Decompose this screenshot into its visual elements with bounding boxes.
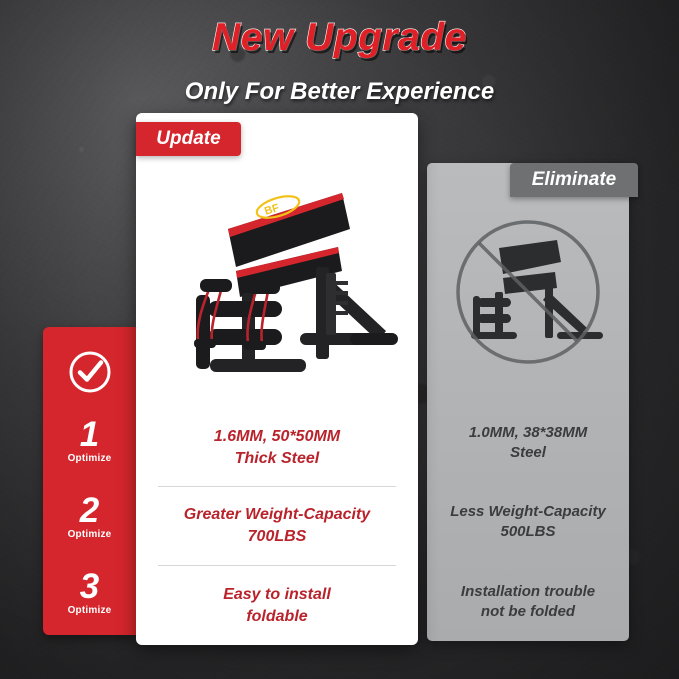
optimize-item-1: 1 Optimize: [43, 417, 136, 464]
eliminate-tab: Eliminate: [510, 163, 638, 197]
page-title: New Upgrade: [0, 18, 679, 59]
update-row-3: Easy to install foldable: [136, 566, 418, 646]
optimize-label: Optimize: [43, 605, 136, 616]
update-row-2-line-1: Greater Weight-Capacity: [150, 504, 404, 526]
update-tab: Update: [136, 122, 241, 156]
eliminate-row-3-line-2: not be folded: [437, 602, 619, 622]
update-row-1: 1.6MM, 50*50MM Thick Steel: [136, 410, 418, 486]
eliminate-row-3: Installation trouble not be folded: [427, 562, 629, 642]
check-circle-icon: [43, 349, 136, 395]
optimize-number: 2: [43, 493, 136, 528]
update-row-1-line-2: Thick Steel: [150, 448, 404, 470]
adjustable-weight-bench-photo: BF: [150, 155, 404, 403]
optimize-number: 3: [43, 569, 136, 604]
update-row-3-line-1: Easy to install: [150, 584, 404, 606]
optimize-item-2: 2 Optimize: [43, 493, 136, 540]
optimize-number: 1: [43, 417, 136, 452]
eliminate-row-2: Less Weight-Capacity 500LBS: [427, 482, 629, 562]
eliminate-row-1-line-2: Steel: [437, 443, 619, 463]
eliminate-row-2-line-2: 500LBS: [437, 522, 619, 542]
eliminate-row-1: 1.0MM, 38*38MM Steel: [427, 404, 629, 482]
eliminate-row-3-line-1: Installation trouble: [437, 582, 619, 602]
update-row-1-line-1: 1.6MM, 50*50MM: [150, 426, 404, 448]
optimize-label: Optimize: [43, 529, 136, 540]
page-subtitle: Only For Better Experience: [0, 78, 679, 106]
update-row-3-line-2: foldable: [150, 606, 404, 628]
eliminate-row-2-line-1: Less Weight-Capacity: [437, 502, 619, 522]
update-row-2: Greater Weight-Capacity 700LBS: [136, 487, 418, 565]
optimize-label: Optimize: [43, 453, 136, 464]
eliminate-row-1-line-1: 1.0MM, 38*38MM: [437, 423, 619, 443]
update-rows: 1.6MM, 50*50MM Thick Steel Greater Weigh…: [136, 410, 418, 646]
optimize-strip: 1 Optimize 2 Optimize 3 Optimize: [43, 327, 136, 635]
crossed-out-weight-bench-photo: [437, 200, 619, 390]
optimize-item-3: 3 Optimize: [43, 569, 136, 616]
eliminate-rows: 1.0MM, 38*38MM Steel Less Weight-Capacit…: [427, 404, 629, 642]
poster-root: New Upgrade Only For Better Experience 1…: [0, 0, 679, 679]
update-row-2-line-2: 700LBS: [150, 526, 404, 548]
no-entry-slash-icon: [458, 222, 598, 362]
